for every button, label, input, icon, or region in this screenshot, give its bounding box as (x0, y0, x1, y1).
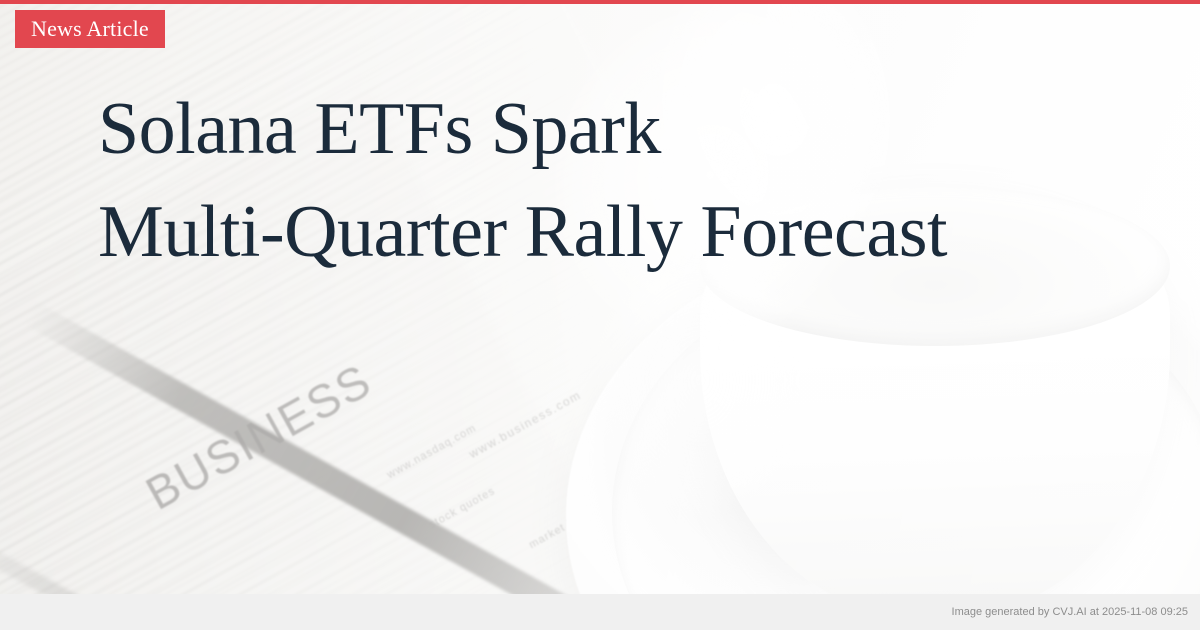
generation-credit: Image generated by CVJ.AI at 2025-11-08 … (952, 606, 1200, 618)
footer-bar: Image generated by CVJ.AI at 2025-11-08 … (0, 594, 1200, 630)
news-article-card: BUSINESS www.nasdaq.com stock quotes www… (0, 0, 1200, 630)
steam-wisp-3 (600, 250, 800, 510)
page-title: Solana ETFs Spark Multi-Quarter Rally Fo… (98, 78, 1128, 284)
top-accent-rule (0, 0, 1200, 4)
page-title-line-1: Solana ETFs Spark (98, 78, 1128, 181)
category-badge: News Article (15, 10, 165, 48)
page-title-line-2: Multi-Quarter Rally Forecast (98, 181, 1128, 284)
category-badge-label: News Article (31, 16, 149, 42)
